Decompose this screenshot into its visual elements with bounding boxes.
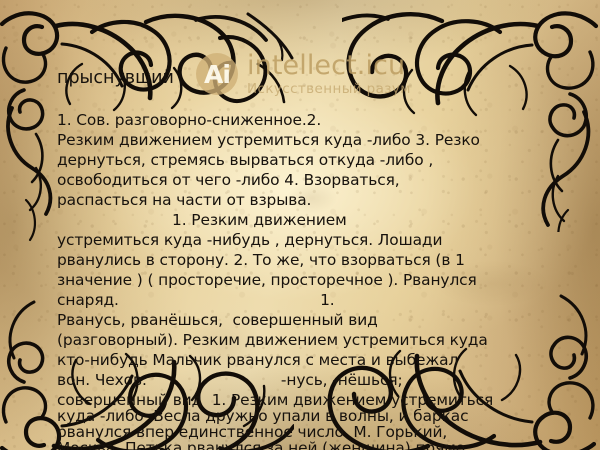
presentation-slide: Ai intellect.icu Искусственный разум пры… bbox=[0, 0, 600, 450]
body-line: Резким движением устремиться куда -либо … bbox=[57, 131, 480, 149]
body-line: освободиться от чего -либо 4. Взорваться… bbox=[57, 171, 400, 189]
body-line: (разговорный). Резким движением устремит… bbox=[57, 331, 488, 349]
body-line: рванулись в сторону. 2. То же, что взорв… bbox=[57, 251, 465, 269]
body-line: 1. Сов. разговорно-сниженное.2. bbox=[57, 111, 321, 129]
body-line: снаряд. 1. bbox=[57, 291, 335, 309]
body-line: распасться на части от взрыва. bbox=[57, 191, 311, 209]
body-line: вон. Чехов. -нусь, -нёшься; bbox=[57, 371, 403, 389]
body-line: дернуться, стремясь вырваться откуда -ли… bbox=[57, 151, 433, 169]
body-line: 1. Резким движением bbox=[57, 211, 347, 229]
body-line: значение ) ( просторечие, просторечное )… bbox=[57, 271, 477, 289]
headword: прыснувший bbox=[57, 68, 174, 88]
body-line: Рванусь, рванёшься, совершенный вид bbox=[57, 311, 378, 329]
body-line: кто-нибудь Мальчик рванулся с места и вы… bbox=[57, 351, 458, 369]
body-line: Москва. Петька рванулся за ней (женщина)… bbox=[57, 439, 465, 450]
body-line: устремиться куда -нибудь , дернуться. Ло… bbox=[57, 231, 442, 249]
slide-text-content: прыснувший 1. Сов. разговорно-сниженное.… bbox=[0, 0, 600, 450]
